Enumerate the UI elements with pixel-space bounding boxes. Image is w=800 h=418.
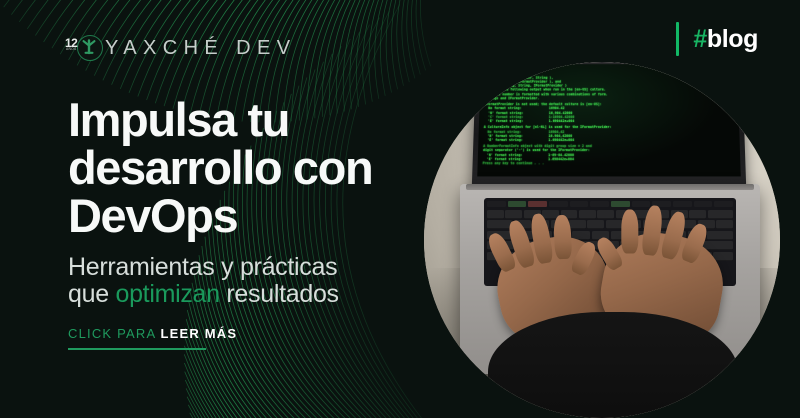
cta-read-more[interactable]: CLICK PARA LEER MÁS	[68, 326, 237, 350]
hero-subtitle: Herramientas y prácticas que optimizan r…	[68, 254, 408, 308]
subhead-accent-word: optimizan	[115, 280, 219, 308]
brand-logo[interactable]: 12 AÑOS YAXCHÉ DEV	[66, 33, 296, 63]
subhead-line-2-post: resultados	[220, 280, 339, 308]
hero-photo-circle: This example of Single(IFormatProvider),…	[424, 62, 780, 418]
blog-badge[interactable]: #blog	[676, 22, 758, 56]
badge-accent-bar	[676, 22, 679, 56]
subhead-line-1: Herramientas y prácticas	[68, 253, 337, 281]
headline-line-1: Impulsa tu	[68, 93, 289, 146]
terminal-code-text: This example of Single(IFormatProvider),…	[483, 68, 736, 165]
logo-mark: 12 AÑOS	[66, 33, 96, 63]
headline-line-3: DevOps	[68, 189, 237, 242]
headline-line-2: desarrollo con	[68, 141, 372, 194]
badge-word: blog	[707, 25, 758, 53]
logo-number-sub: AÑOS	[66, 48, 76, 51]
hero-copy: Impulsa tu desarrollo con DevOps Herrami…	[68, 96, 408, 308]
touch-bar	[487, 201, 733, 207]
cta-underline	[68, 348, 206, 350]
laptop-lid: This example of Single(IFormatProvider),…	[472, 62, 746, 187]
shirt-sleeve	[488, 312, 738, 418]
logo-wordmark: YAXCHÉ DEV	[105, 37, 296, 60]
laptop-screen: This example of Single(IFormatProvider),…	[477, 64, 741, 176]
badge-label: #blog	[693, 25, 758, 54]
cta-prefix: CLICK PARA	[68, 326, 160, 341]
cta-label: CLICK PARA LEER MÁS	[68, 326, 237, 341]
page-title: Impulsa tu desarrollo con DevOps	[68, 96, 408, 240]
badge-hash: #	[693, 25, 707, 53]
logo-tree-glyph-icon	[77, 35, 101, 59]
laptop-hinge	[466, 184, 754, 190]
subhead-line-2-pre: que	[68, 280, 115, 308]
cta-strong: LEER MÁS	[160, 326, 237, 341]
blog-hero-banner: This example of Single(IFormatProvider),…	[0, 0, 800, 418]
